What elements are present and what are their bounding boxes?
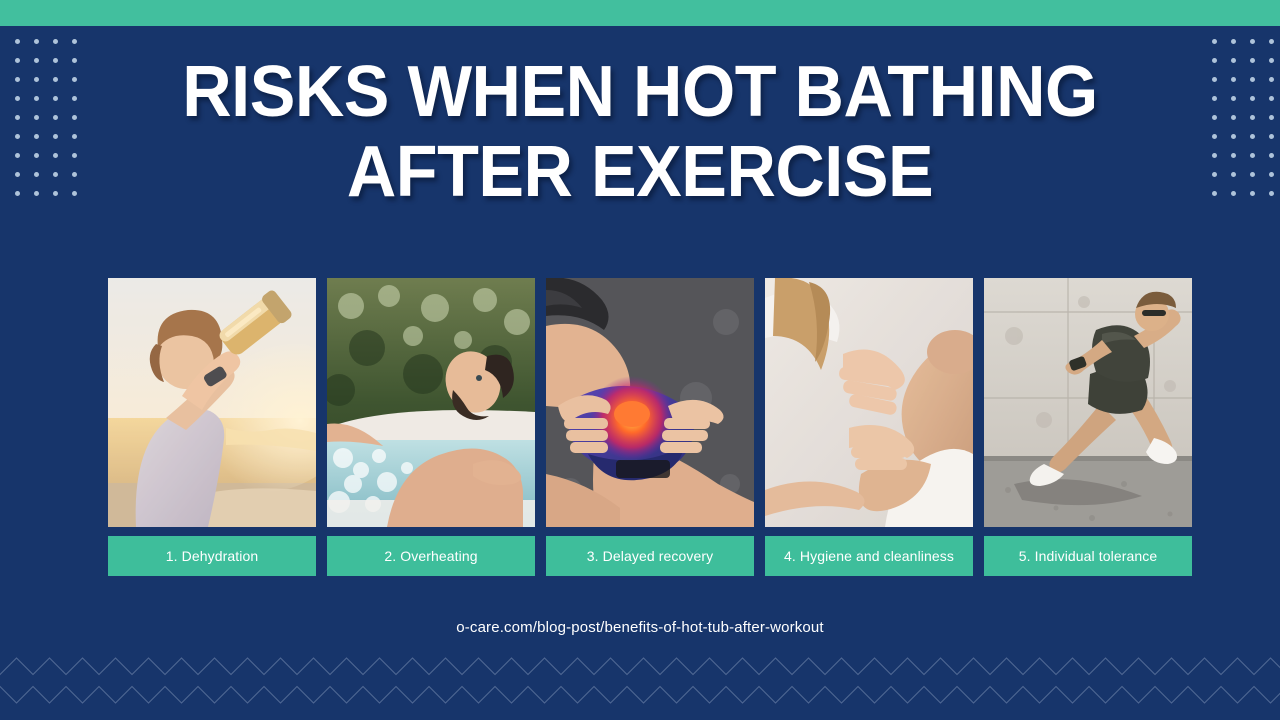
dot-decoration: [1269, 115, 1274, 120]
dot-decoration: [1269, 172, 1274, 177]
infographic-poster: RISKS WHEN HOT BATHING AFTER EXERCISE: [0, 0, 1280, 720]
dot-decoration: [1231, 39, 1236, 44]
diamond-outline-svg: [0, 642, 1280, 720]
man-relaxing-in-outdoor-hot-tub-image: [327, 278, 535, 527]
card-5-caption: 5. Individual tolerance: [984, 536, 1192, 576]
dot-decoration: [1250, 191, 1255, 196]
dot-decoration: [15, 39, 20, 44]
dot-decoration: [1269, 58, 1274, 63]
dot-decoration: [1250, 134, 1255, 139]
card-5-photo: [984, 278, 1192, 527]
woman-drinking-water-at-beach-sunset-image: [108, 278, 316, 527]
man-running-past-concrete-wall-image: [984, 278, 1192, 527]
dot-decoration: [1269, 153, 1274, 158]
card-4-photo: [765, 278, 973, 527]
dot-decoration: [1250, 172, 1255, 177]
dot-decoration: [1250, 115, 1255, 120]
page-title-line-1: RISKS WHEN HOT BATHING: [32, 52, 1248, 132]
dot-decoration: [1250, 39, 1255, 44]
dot-decoration: [1212, 39, 1217, 44]
risk-card-row: 1. Dehydration: [108, 278, 1182, 576]
dot-decoration: [15, 172, 20, 177]
bottom-diamond-pattern: [0, 642, 1280, 720]
page-title: RISKS WHEN HOT BATHING AFTER EXERCISE: [32, 52, 1248, 212]
dot-decoration: [1269, 191, 1274, 196]
card-1-caption: 1. Dehydration: [108, 536, 316, 576]
dot-decoration: [1269, 134, 1274, 139]
dot-decoration: [1250, 58, 1255, 63]
card-3-photo: [546, 278, 754, 527]
dot-decoration: [15, 77, 20, 82]
dot-decoration: [15, 58, 20, 63]
top-accent-bar: [0, 0, 1280, 26]
card-4-caption: 4. Hygiene and cleanliness: [765, 536, 973, 576]
dot-decoration: [1250, 77, 1255, 82]
dot-decoration: [53, 39, 58, 44]
dot-decoration: [15, 134, 20, 139]
shoulder-massage-therapy-image: [765, 278, 973, 527]
dot-decoration: [15, 191, 20, 196]
dot-decoration: [1269, 77, 1274, 82]
page-title-line-2: AFTER EXERCISE: [32, 132, 1248, 212]
risk-card-4[interactable]: 4. Hygiene and cleanliness: [765, 278, 973, 576]
dot-decoration: [15, 115, 20, 120]
dot-decoration: [34, 39, 39, 44]
dot-decoration: [15, 96, 20, 101]
dot-decoration: [1269, 96, 1274, 101]
risk-card-3[interactable]: 3. Delayed recovery: [546, 278, 754, 576]
knee-pain-with-brace-image: [546, 278, 754, 527]
dot-decoration: [1250, 153, 1255, 158]
card-2-caption: 2. Overheating: [327, 536, 535, 576]
risk-card-5[interactable]: 5. Individual tolerance: [984, 278, 1192, 576]
dot-decoration: [72, 39, 77, 44]
dot-decoration: [1250, 96, 1255, 101]
dot-decoration: [15, 153, 20, 158]
card-1-photo: [108, 278, 316, 527]
risk-card-2[interactable]: 2. Overheating: [327, 278, 535, 576]
source-url[interactable]: o-care.com/blog-post/benefits-of-hot-tub…: [0, 619, 1280, 636]
card-3-caption: 3. Delayed recovery: [546, 536, 754, 576]
risk-card-1[interactable]: 1. Dehydration: [108, 278, 316, 576]
card-2-photo: [327, 278, 535, 527]
dot-decoration: [1269, 39, 1274, 44]
